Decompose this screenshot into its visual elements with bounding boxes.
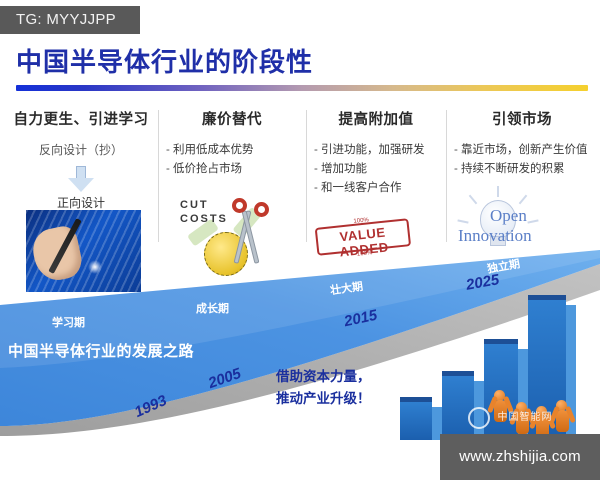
slide-canvas: TG: MYYJJPP 中国半导体行业的阶段性 自力更生、引进学习 反向设计（抄…	[0, 0, 600, 480]
phase-column-1-subtext: 反向设计（抄）	[4, 141, 158, 158]
scissors-handle-icon	[232, 198, 247, 213]
phase-column-2-bullets: 利用低成本优势 低价抢占市场	[166, 141, 306, 179]
list-item: 靠近市场，创新产生价值	[454, 141, 598, 160]
tg-tag: TG: MYYJJPP	[0, 6, 140, 34]
phase-column-4-heading: 引领市场	[446, 108, 598, 129]
phase-column-3-bullets: 引进功能，加强研发 增加功能 和一线客户合作	[314, 141, 446, 198]
title-gradient-rule	[16, 85, 588, 91]
cut-costs-label: CUT COSTS	[180, 198, 228, 226]
light-ray-icon	[497, 186, 499, 197]
light-ray-icon	[457, 219, 468, 223]
list-item: 引进功能，加强研发	[314, 141, 446, 160]
phase-column-1-caption: 正向设计	[4, 194, 158, 211]
scissors-handle-icon	[254, 202, 269, 217]
light-ray-icon	[469, 195, 478, 205]
phase-column-4-bullets: 靠近市场，创新产生价值 持续不断研发的积累	[454, 141, 598, 179]
list-item: 利用低成本优势	[166, 141, 306, 160]
open-innovation-line1: Open	[490, 206, 527, 226]
url-watermark-bar: www.zhshijia.com	[440, 434, 600, 480]
light-ray-icon	[527, 219, 538, 223]
slogan-line-1: 借助资本力量，	[276, 366, 371, 388]
light-ray-icon	[519, 195, 528, 205]
page-title: 中国半导体行业的阶段性	[16, 42, 313, 79]
list-item: 增加功能	[314, 160, 446, 179]
list-item: 低价抢占市场	[166, 160, 306, 179]
open-innovation-line2: Innovation	[458, 226, 532, 246]
logo-ring-icon	[468, 407, 490, 429]
phase-column-2-heading: 廉价替代	[158, 108, 306, 129]
list-item: 和一线客户合作	[314, 179, 446, 198]
slogan-line-2: 推动产业升级！	[276, 388, 371, 410]
phase-column-1-heading: 自力更生、引进学习	[4, 108, 158, 129]
site-logo-watermark: 中国智能网	[470, 404, 580, 432]
phase-marker-2: 成长期	[196, 300, 229, 316]
phase-column-3-heading: 提高附加值	[306, 108, 446, 129]
down-arrow-icon	[68, 166, 94, 192]
chart-bar-1	[400, 402, 432, 440]
logo-text: 中国智能网	[498, 412, 553, 423]
list-item: 持续不断研发的积累	[454, 160, 598, 179]
phase-marker-1: 学习期	[52, 314, 85, 330]
slogan-text: 借助资本力量， 推动产业升级！	[276, 366, 371, 410]
road-title: 中国半导体行业的发展之路	[8, 340, 194, 361]
